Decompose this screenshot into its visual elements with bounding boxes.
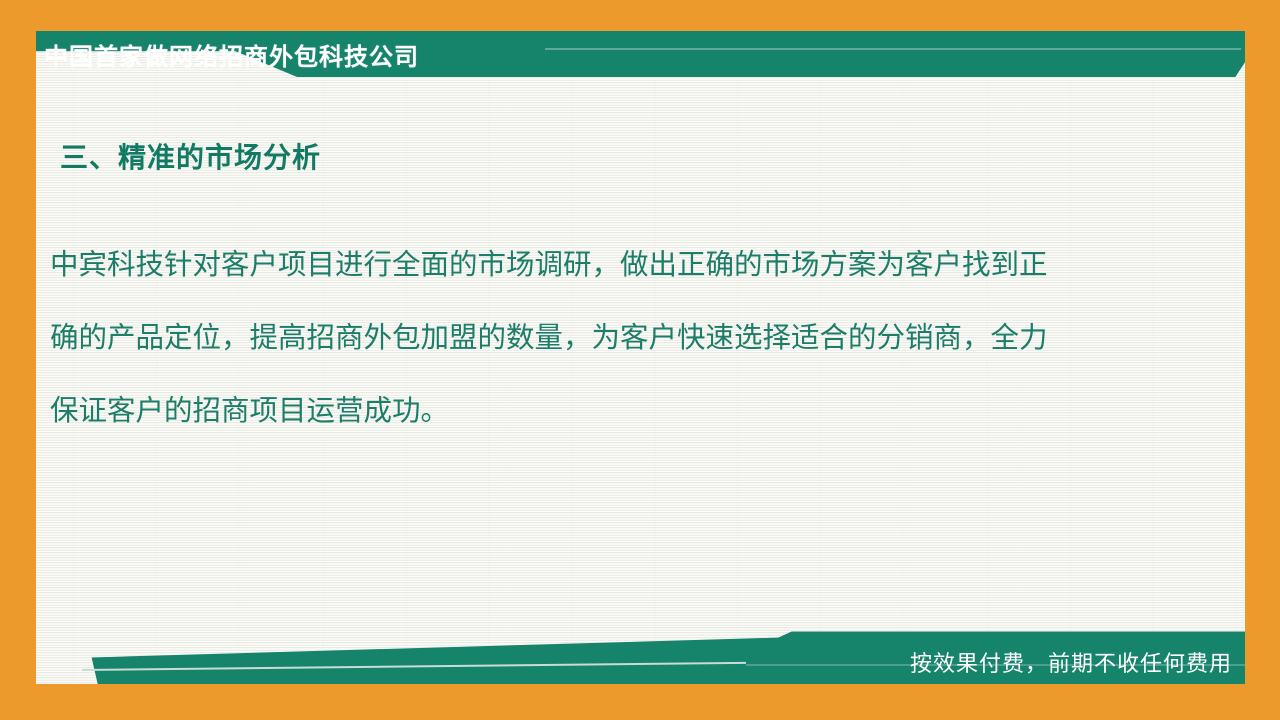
header-divider-rule bbox=[545, 48, 1241, 50]
section-heading: 三、精准的市场分析 bbox=[60, 136, 321, 176]
body-line: 保证客户的招商项目运营成功。 bbox=[50, 374, 1180, 447]
body-line: 确的产品定位，提高招商外包加盟的数量，为客户快速选择适合的分销商，全力 bbox=[50, 301, 1180, 374]
body-line: 中宾科技针对客户项目进行全面的市场调研，做出正确的市场方案为客户找到正 bbox=[50, 228, 1180, 301]
body-paragraph: 中宾科技针对客户项目进行全面的市场调研，做出正确的市场方案为客户找到正 确的产品… bbox=[50, 228, 1180, 447]
slide-canvas: 中国首家做网络招商外包科技公司 三、精准的市场分析 中宾科技针对客户项目进行全面… bbox=[0, 0, 1280, 720]
footer-tagline: 按效果付费，前期不收任何费用 bbox=[910, 645, 1232, 679]
header-title: 中国首家做网络招商外包科技公司 bbox=[44, 32, 419, 76]
